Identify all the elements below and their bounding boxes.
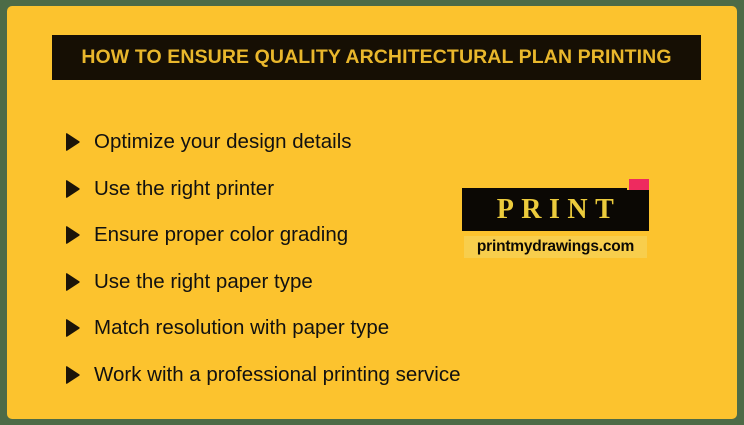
brand-logo[interactable]: PRINT printmydrawings.com — [462, 179, 654, 266]
logo-domain-text: printmydrawings.com — [477, 239, 634, 255]
list-item: Match resolution with paper type — [65, 305, 535, 352]
header-title-bar: HOW TO ENSURE QUALITY ARCHITECTURAL PLAN… — [52, 35, 701, 80]
list-item: Work with a professional printing servic… — [65, 352, 535, 399]
list-item: Optimize your design details — [65, 119, 535, 166]
logo-black-box: PRINT — [462, 188, 649, 231]
triangle-right-icon — [65, 132, 81, 152]
triangle-right-icon — [65, 318, 81, 338]
card-surface: HOW TO ENSURE QUALITY ARCHITECTURAL PLAN… — [7, 6, 737, 419]
logo-badge: PRINT — [462, 179, 649, 231]
logo-domain-band: printmydrawings.com — [464, 236, 647, 258]
list-item-label: Work with a professional printing servic… — [94, 365, 461, 386]
triangle-right-icon — [65, 365, 81, 385]
infographic-card: HOW TO ENSURE QUALITY ARCHITECTURAL PLAN… — [0, 0, 744, 425]
list-item-label: Use the right paper type — [94, 272, 313, 293]
triangle-right-icon — [65, 272, 81, 292]
page-title: HOW TO ENSURE QUALITY ARCHITECTURAL PLAN… — [81, 46, 671, 69]
triangle-right-icon — [65, 225, 81, 245]
logo-accent-square-icon — [629, 179, 649, 190]
logo-wordmark: PRINT — [490, 196, 622, 224]
list-item-label: Match resolution with paper type — [94, 318, 389, 339]
list-item-label: Use the right printer — [94, 179, 274, 200]
list-item-label: Optimize your design details — [94, 132, 352, 153]
triangle-right-icon — [65, 179, 81, 199]
list-item-label: Ensure proper color grading — [94, 225, 348, 246]
